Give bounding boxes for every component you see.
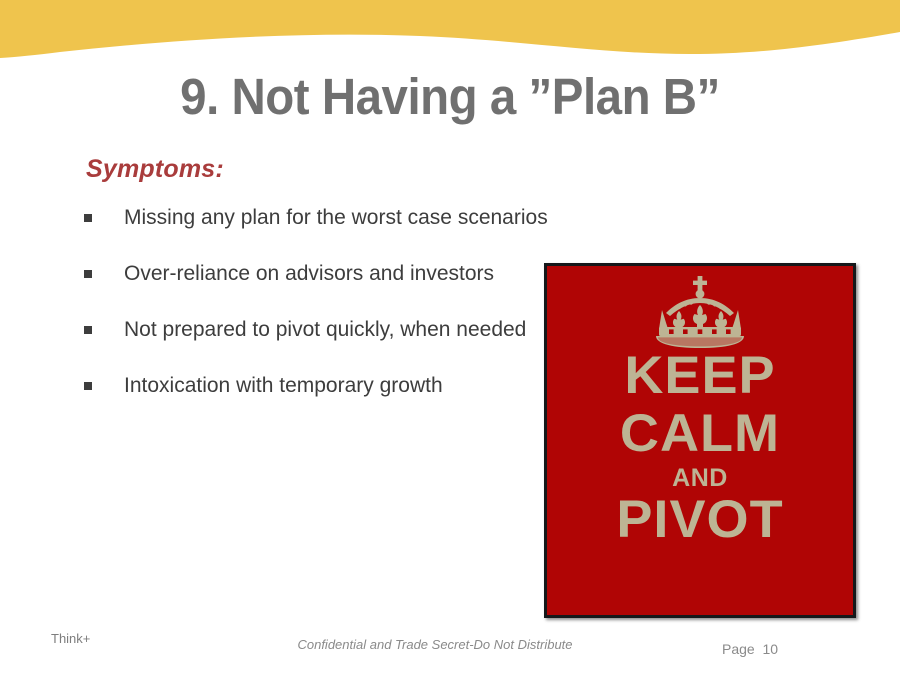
square-bullet-icon xyxy=(84,382,92,390)
list-item-label: Not prepared to pivot quickly, when need… xyxy=(124,318,526,341)
list-item: Missing any plan for the worst case scen… xyxy=(84,205,554,231)
symptom-bullet-list: Missing any plan for the worst case scen… xyxy=(84,205,554,429)
square-bullet-icon xyxy=(84,214,92,222)
section-heading-symptoms: Symptoms: xyxy=(86,154,224,184)
top-accent-wave xyxy=(0,0,900,60)
poster-line-calm: CALM xyxy=(544,406,856,462)
footer-page-number: Page 10 xyxy=(722,641,778,658)
poster-line-pivot: PIVOT xyxy=(544,492,856,548)
square-bullet-icon xyxy=(84,326,92,334)
poster-line-and: AND xyxy=(547,464,853,492)
list-item-label: Missing any plan for the worst case scen… xyxy=(124,206,548,229)
list-item-label: Over-reliance on advisors and investors xyxy=(124,262,494,285)
tudor-crown-icon xyxy=(646,274,754,348)
page-title: 9. Not Having a ”Plan B” xyxy=(32,66,869,128)
slide-canvas: 9. Not Having a ”Plan B” Symptoms: Missi… xyxy=(0,0,900,675)
list-item-label: Intoxication with temporary growth xyxy=(124,374,443,397)
poster-line-keep: KEEP xyxy=(544,348,856,404)
list-item: Over-reliance on advisors and investors xyxy=(84,261,554,287)
list-item: Intoxication with temporary growth xyxy=(84,373,554,399)
list-item: Not prepared to pivot quickly, when need… xyxy=(84,317,554,343)
keep-calm-poster-image: KEEP CALM AND PIVOT xyxy=(544,263,856,618)
square-bullet-icon xyxy=(84,270,92,278)
